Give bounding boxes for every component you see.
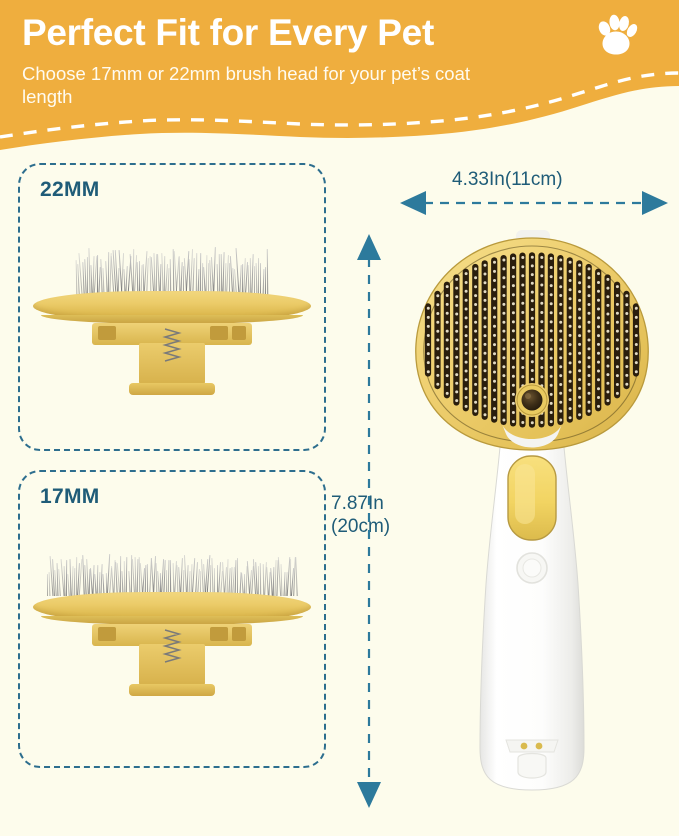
brush-pin [512,302,515,305]
brush-pin [559,321,562,324]
bristle [170,560,172,596]
brush-pin [606,304,609,307]
brush-pin [625,312,628,315]
brush-pin [588,339,591,342]
brush-pin [502,312,505,315]
brush-pin [559,365,562,368]
brush-pin [540,339,543,342]
brush-pin [493,380,496,383]
brush-pin [502,347,505,350]
brush-pin [455,321,458,324]
brush-pin [512,257,515,260]
brush-pin [569,325,572,328]
brush-pin [578,413,581,416]
brush-pin [474,383,477,386]
brush-pin [531,308,534,311]
brush-pin [550,266,553,269]
brush-pin [446,303,449,306]
brush-pin [531,299,534,302]
brush-head-17mm-illustration [20,550,324,740]
brush-pin [465,405,468,408]
brush-pin [635,325,638,328]
brush-pin [531,317,534,320]
brush-pin [455,313,458,316]
brush-pin [588,294,591,297]
brush-pin [484,413,487,416]
brush-pin [493,307,496,310]
brush-pin [559,312,562,315]
brush-pin [446,392,449,395]
brush-pin [436,347,439,350]
brush-pin [465,299,468,302]
brush-pin [606,330,609,333]
brush-pin [550,284,553,287]
brush-pin [540,256,543,259]
brush-pin [512,384,515,387]
brush-pin [493,261,496,264]
brush-pin [588,356,591,359]
brush-pin [559,276,562,279]
brush-pin [446,383,449,386]
brush-pin [606,287,609,290]
brush-pin [512,402,515,405]
dimension-width-label: 4.33In(11cm) [452,168,563,191]
brush-pin [521,366,524,369]
brush-pin [616,392,619,395]
brush-pin [512,311,515,314]
page-title: Perfect Fit for Every Pet [22,12,582,55]
spec-card-22mm: 22MM [18,163,326,451]
brush-pin [606,321,609,324]
bristle [126,557,128,596]
brush-pin [512,293,515,296]
brush-pin [569,380,572,383]
brush-pin [578,352,581,355]
brush-slot [425,303,431,376]
brush-pin [427,316,430,319]
brush-pin [427,325,430,328]
brush-pin [597,378,600,381]
bristle [262,269,264,295]
brush-pin [502,410,505,413]
brush-pin [540,302,543,305]
brush-pin [455,382,458,385]
brush-pin [606,399,609,402]
mount-notch-right-17mm [210,627,228,641]
brush-pin [502,330,505,333]
brush-pin [578,387,581,390]
brush-pin [588,312,591,315]
brush-pin [484,299,487,302]
contact-plate [506,740,558,752]
brush-pin [540,329,543,332]
brush-pin [616,383,619,386]
brush-pin [493,316,496,319]
bristle [258,258,259,295]
brush-pin [550,348,553,351]
brush-pin [616,356,619,359]
brush-pin [427,370,430,373]
brush-pin [502,267,505,270]
brush-pin [465,387,468,390]
brush-pin [635,352,638,355]
brush-pin [493,279,496,282]
brush-pin [502,285,505,288]
brush-pin [474,312,477,315]
brush-pin [597,290,600,293]
brush-pin [569,297,572,300]
brush-pin [606,382,609,385]
brush-pin [606,390,609,393]
brush-pin [502,294,505,297]
brush-pin [578,290,581,293]
brush-pin [455,365,458,368]
brush-pin [465,281,468,284]
brush-pin [436,339,439,342]
brush-pin [512,320,515,323]
brush-pin [569,361,572,364]
brush-pin [550,293,553,296]
card-label-22mm: 22MM [40,178,100,202]
brush-pin [474,401,477,404]
bristle-field-17mm [46,550,298,596]
mount-foot-22mm [129,383,215,395]
brush-pin [588,383,591,386]
brush-pin [512,375,515,378]
dimension-width-arrow [398,190,670,220]
mount-notch-left-17mm [98,627,116,641]
brush-pin [484,264,487,267]
brush-pin [559,356,562,359]
brush-pin [578,369,581,372]
brush-pin [550,402,553,405]
brush-pin [521,421,524,424]
brush-pin [512,393,515,396]
brush-pin [569,416,572,419]
bristle [237,558,238,596]
brush-pin [446,374,449,377]
brush-pin [635,316,638,319]
brush-pin [455,278,458,281]
release-button-highlight [525,393,531,399]
brush-pin [474,276,477,279]
brush-pin [550,311,553,314]
bristle [195,252,197,295]
brush-pin [616,321,619,324]
brush-pin [578,317,581,320]
brush-pin [531,378,534,381]
brush-pin [597,316,600,319]
brush-pin [540,311,543,314]
brush-pin [484,290,487,293]
brush-pin [512,357,515,360]
brush-pin [436,321,439,324]
brush-pin [597,272,600,275]
brush-slot [491,257,497,423]
brush-pin [588,347,591,350]
bristle [170,259,172,295]
brush-pin [436,365,439,368]
slider-button-highlight [515,464,535,524]
brush-pin [559,267,562,270]
brush-pin [578,325,581,328]
pet-grooming-brush-product [398,228,670,808]
brush-pin [493,361,496,364]
spec-card-17mm: 17MM [18,470,326,768]
brush-pin [493,334,496,337]
brush-pin [436,374,439,377]
brush-pin [540,421,543,424]
brush-pin [531,256,534,259]
brush-pin [616,285,619,288]
brush-pin [606,365,609,368]
brush-pin [455,287,458,290]
brush-pin [625,330,628,333]
brush-pin [569,288,572,291]
brush-pin [588,392,591,395]
brush-pin [578,281,581,284]
brush-pin [635,334,638,337]
brush-pin [474,339,477,342]
brush-pin [474,374,477,377]
bristle [200,253,201,295]
brush-pin [597,405,600,408]
brush-pin [465,352,468,355]
brush-pin [521,284,524,287]
brush-pin [455,330,458,333]
brush-pin [521,357,524,360]
brush-pin [531,343,534,346]
brush-pin [436,383,439,386]
brush-pin [559,401,562,404]
bristle [281,563,283,596]
charging-contact-right [536,743,543,750]
brush-pin [474,347,477,350]
brush-pin [550,411,553,414]
brush-pin [588,365,591,368]
brush-pin [540,284,543,287]
bristle [265,267,266,295]
brush-pin [588,321,591,324]
brush-pin [531,282,534,285]
brush-pin [550,302,553,305]
mount-notch-far-22mm [232,326,246,340]
brush-pin [588,285,591,288]
brush-pin [502,276,505,279]
bristle [218,254,219,295]
brush-pin [559,392,562,395]
brush-pin [597,299,600,302]
brush-pin [578,378,581,381]
brush-pin [512,266,515,269]
brush-pin [588,276,591,279]
brush-pin [474,294,477,297]
brush-head-22mm-illustration [20,245,324,435]
brush-pin [502,365,505,368]
bottom-button[interactable] [518,754,546,779]
brush-pin [569,316,572,319]
brush-pin [484,343,487,346]
brush-pin [635,307,638,310]
bristle [103,268,105,295]
brush-pin [502,401,505,404]
brush-pin [502,259,505,262]
brush-pin [578,334,581,337]
brush-pin [446,356,449,359]
brush-pin [502,356,505,359]
brush-pin [540,366,543,369]
brush-pin [597,387,600,390]
mount-notch-far-17mm [232,627,246,641]
brush-pin [521,320,524,323]
brush-pin [465,361,468,364]
brush-pin [578,361,581,364]
brush-pin [625,321,628,324]
card-label-17mm: 17MM [40,485,100,509]
brush-pin [446,347,449,350]
brush-pin [531,360,534,363]
brush-pin [569,352,572,355]
brush-pin [625,374,628,377]
charging-contact-left [521,743,528,750]
brush-pin [465,334,468,337]
brush-pin [484,369,487,372]
brush-pin [512,420,515,423]
brush-pin [493,407,496,410]
brush-pin [521,256,524,259]
brush-pin [588,303,591,306]
brush-pin [455,295,458,298]
brush-pin [521,311,524,314]
brush-pin [606,313,609,316]
brush-pin [578,264,581,267]
brush-pin [455,347,458,350]
brush-pin [455,373,458,376]
bristle [239,264,241,295]
brush-pin [569,343,572,346]
brush-pin [625,294,628,297]
brush-pin [606,356,609,359]
brush-pin [455,399,458,402]
brush-slot [633,303,639,376]
brush-pin [616,365,619,368]
brush-pin [502,419,505,422]
brush-pin [484,378,487,381]
brush-pin [540,357,543,360]
brush-pin [446,321,449,324]
spring-coil-22mm [162,327,182,363]
brush-pin [597,361,600,364]
brush-pin [474,267,477,270]
brush-pin [455,304,458,307]
page-subtitle: Choose 17mm or 22mm brush head for your … [22,62,517,109]
brush-pin [635,343,638,346]
brush-pin [606,295,609,298]
brush-pin [569,389,572,392]
brush-pin [521,329,524,332]
brush-pin [493,371,496,374]
brush-pin [588,410,591,413]
brush-pin [616,294,619,297]
brush-pin [427,361,430,364]
bristle [267,249,268,295]
brush-pin [521,293,524,296]
brush-pin [550,339,553,342]
brush-pin [465,370,468,373]
brush-pin [455,339,458,342]
brush-pin [446,285,449,288]
brush-pin [484,317,487,320]
brush-pin [465,325,468,328]
brush-pin [446,312,449,315]
brush-pin [550,393,553,396]
brush-pin [531,421,534,424]
brush-pin [578,343,581,346]
brush-pin [569,371,572,374]
mount-notch-left-22mm [98,326,116,340]
brush-pin [465,378,468,381]
brush-pin [616,374,619,377]
brush-pin [502,339,505,342]
brush-pin [597,352,600,355]
brush-pin [635,361,638,364]
brush-pin [540,320,543,323]
brush-pin [465,308,468,311]
brush-pin [540,375,543,378]
brush-pin [427,307,430,310]
brush-pin [606,347,609,350]
brush-pin [502,392,505,395]
brush-pin [569,307,572,310]
brush-pin [465,272,468,275]
brush-pin [531,352,534,355]
brush-pin [521,265,524,268]
brush-pin [427,343,430,346]
brush-pin [578,299,581,302]
brush-pin [616,312,619,315]
brush-pin [559,303,562,306]
bristle [87,257,88,295]
brush-pin [474,392,477,395]
brush-pin [550,375,553,378]
brush-pin [446,365,449,368]
brush-pin [550,257,553,260]
brush-pin [597,343,600,346]
brush-pin [521,302,524,305]
brush-pin [493,325,496,328]
brush-pin [597,281,600,284]
release-button[interactable] [522,390,543,411]
brush-pin [616,339,619,342]
brush-pin [550,275,553,278]
brush-pin [550,366,553,369]
brush-pin [493,343,496,346]
brush-pin [550,320,553,323]
brush-pin [531,273,534,276]
brush-pin [569,407,572,410]
brush-pin [550,384,553,387]
brush-pin [559,419,562,422]
spring-coil-17mm [162,628,182,664]
brush-pin [502,374,505,377]
brush-pin [531,325,534,328]
brush-pin [446,294,449,297]
brush-pin [559,339,562,342]
brush-pin [578,273,581,276]
brush-pin [474,410,477,413]
brush-pin [559,374,562,377]
brush-pin [455,390,458,393]
